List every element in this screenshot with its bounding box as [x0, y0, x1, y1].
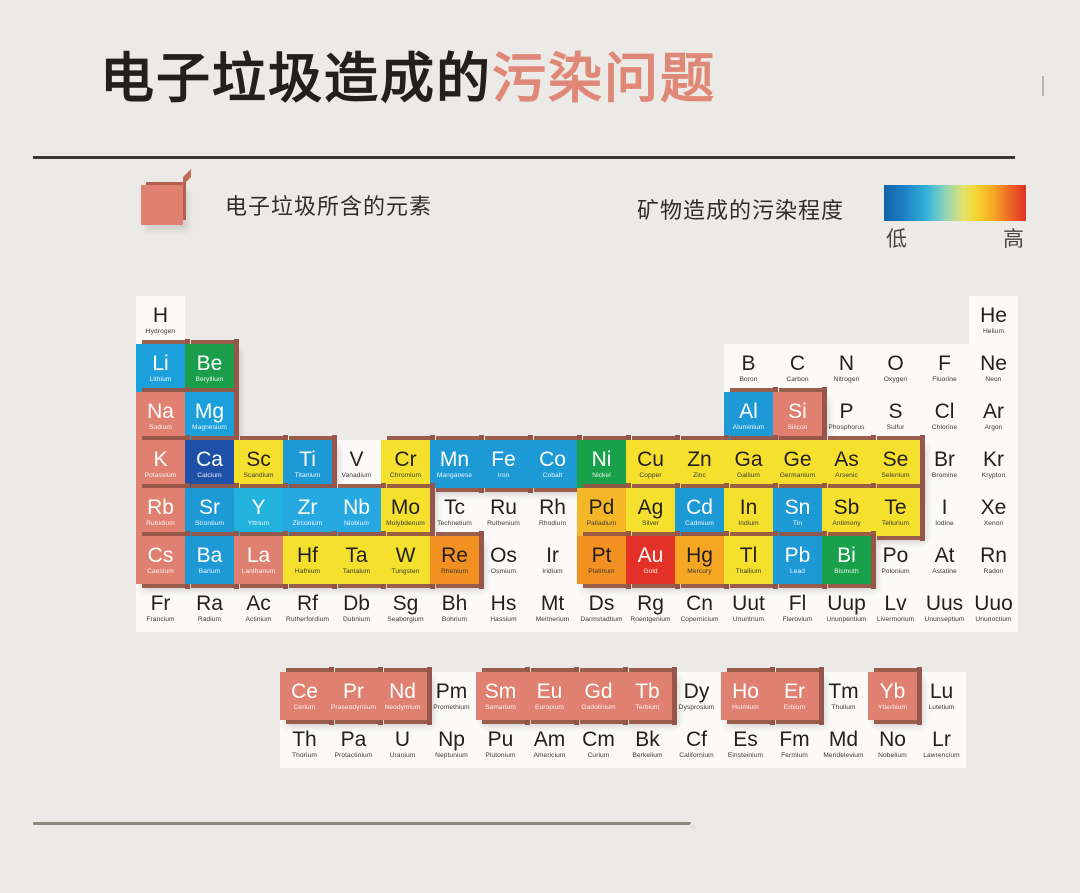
element-name: Astatine — [932, 569, 957, 576]
element-cell-bi[interactable]: BiBismuth — [822, 536, 871, 584]
element-name: Iron — [498, 473, 510, 480]
element-cell-co[interactable]: CoCobalt — [528, 440, 577, 488]
element-cell-br[interactable]: BrBromine — [920, 440, 969, 488]
element-name: Arsenic — [835, 473, 858, 480]
element-symbol: Zn — [687, 449, 712, 470]
element-cell-s[interactable]: SSulfur — [871, 392, 920, 440]
element-cell-eu[interactable]: EuEuropium — [525, 672, 574, 720]
element-symbol: Kr — [983, 449, 1004, 470]
element-name: Manganese — [437, 473, 472, 480]
element-cell-ni[interactable]: NiNickel — [577, 440, 626, 488]
element-cell-i[interactable]: IIodine — [920, 488, 969, 536]
element-cell-dy[interactable]: DyDysprosium — [672, 672, 721, 720]
element-cell-ta[interactable]: TaTantalum — [332, 536, 381, 584]
element-cell-sb[interactable]: SbAntimony — [822, 488, 871, 536]
element-cell-pu[interactable]: PuPlutonium — [476, 720, 525, 768]
element-symbol: Cn — [686, 593, 713, 614]
element-name: Sodium — [149, 425, 172, 432]
element-cell-nd[interactable]: NdNeodymium — [378, 672, 427, 720]
element-cell-ne[interactable]: NeNeon — [969, 344, 1018, 392]
element-symbol: Ra — [196, 593, 223, 614]
element-symbol: Fl — [789, 593, 807, 614]
element-symbol: Ge — [783, 449, 811, 470]
element-name: Bromine — [932, 473, 957, 480]
legend-pollution: 矿物造成的污染程度 低 高 — [637, 185, 1026, 253]
element-symbol: Db — [343, 593, 370, 614]
element-name: Ununseptium — [925, 617, 965, 624]
element-cell-yb[interactable]: YbYtterbium — [868, 672, 917, 720]
element-cell-tc[interactable]: TcTechnetium — [430, 488, 479, 536]
element-symbol: Bh — [442, 593, 468, 614]
element-name: Cadmium — [685, 521, 714, 528]
element-cell-w[interactable]: WTungsten — [381, 536, 430, 584]
element-cell-pt[interactable]: PtPlatinum — [577, 536, 626, 584]
element-name: Europium — [535, 705, 564, 712]
element-symbol: Hf — [297, 545, 318, 566]
element-symbol: Th — [292, 729, 317, 750]
element-name: Palladium — [587, 521, 617, 528]
element-name: Krypton — [982, 473, 1005, 480]
legend-gradient-high: 高 — [1003, 223, 1024, 253]
element-name: Lutetium — [928, 705, 954, 712]
element-symbol: Br — [934, 449, 955, 470]
element-name: Titanium — [295, 473, 321, 480]
element-cell-cl[interactable]: ClChlorine — [920, 392, 969, 440]
element-cell-rh[interactable]: RhRhodium — [528, 488, 577, 536]
legend-ewaste-label: 电子垃圾所含的元素 — [225, 189, 432, 221]
element-cell-mg[interactable]: MgMagnesium — [185, 392, 234, 440]
element-symbol: Ce — [291, 681, 318, 702]
element-cell-au[interactable]: AuGold — [626, 536, 675, 584]
element-cell-hf[interactable]: HfHafnium — [283, 536, 332, 584]
element-cell-tl[interactable]: TlThallium — [724, 536, 773, 584]
element-name: Magnesium — [192, 425, 227, 432]
element-cell-se[interactable]: SeSelenium — [871, 440, 920, 488]
element-cell-es[interactable]: EsEinsteinium — [721, 720, 770, 768]
element-cell-p[interactable]: PPhosphorus — [822, 392, 871, 440]
element-name: Zinc — [693, 473, 706, 480]
legend-swatch-icon — [141, 185, 183, 225]
element-name: Radium — [198, 617, 221, 624]
element-cell-bk[interactable]: BkBerkelium — [623, 720, 672, 768]
element-cell-xe[interactable]: XeXenon — [969, 488, 1018, 536]
element-cell-be[interactable]: BeBeryllium — [185, 344, 234, 392]
element-symbol: Co — [539, 449, 566, 470]
element-name: Indium — [738, 521, 758, 528]
element-symbol: C — [790, 353, 805, 374]
element-cell-he[interactable]: HeHelium — [969, 296, 1018, 344]
element-cell-uus[interactable]: UusUnunseptium — [920, 584, 969, 632]
legend-gradient-scale: 低 高 — [884, 223, 1026, 253]
element-symbol: Lv — [884, 593, 906, 614]
element-cell-lv[interactable]: LvLivermorium — [871, 584, 920, 632]
element-cell-si[interactable]: SiSilicon — [773, 392, 822, 440]
element-cell-la[interactable]: LaLanthanum — [234, 536, 283, 584]
element-cell-sm[interactable]: SmSamarium — [476, 672, 525, 720]
element-symbol: Rn — [980, 545, 1007, 566]
element-symbol: V — [349, 449, 363, 470]
f-block-table: CeCeriumPrPraseodymiumNdNeodymiumPmProme… — [280, 672, 976, 778]
element-cell-sg[interactable]: SgSeaborgium — [381, 584, 430, 632]
element-cell-ar[interactable]: ArArgon — [969, 392, 1018, 440]
element-name: Fluorine — [932, 377, 957, 384]
element-cell-po[interactable]: PoPolonium — [871, 536, 920, 584]
element-cell-li[interactable]: LiLithium — [136, 344, 185, 392]
element-symbol: Pa — [341, 729, 367, 750]
element-cell-rn[interactable]: RnRadon — [969, 536, 1018, 584]
element-symbol: Nd — [389, 681, 416, 702]
element-name: Chromium — [390, 473, 421, 480]
element-cell-bh[interactable]: BhBohrium — [430, 584, 479, 632]
element-name: Lithium — [150, 377, 172, 384]
element-symbol: Xe — [981, 497, 1007, 518]
element-name: Helium — [983, 329, 1004, 336]
element-symbol: Os — [490, 545, 517, 566]
element-name: Rubidium — [146, 521, 175, 528]
element-symbol: Sc — [246, 449, 271, 470]
element-name: Californium — [679, 753, 713, 760]
element-symbol: Pd — [589, 497, 615, 518]
element-name: Tantalum — [343, 569, 371, 576]
element-cell-mo[interactable]: MoMolybdenum — [381, 488, 430, 536]
element-symbol: Cu — [637, 449, 664, 470]
element-name: Tungsten — [391, 569, 419, 576]
element-name: Rhenium — [441, 569, 468, 576]
element-symbol: Ac — [246, 593, 271, 614]
element-name: Gadolinium — [581, 705, 615, 712]
element-name: Livermorium — [877, 617, 914, 624]
element-cell-ra[interactable]: RaRadium — [185, 584, 234, 632]
element-cell-cd[interactable]: CdCadmium — [675, 488, 724, 536]
element-cell-uuo[interactable]: UuoUnunoctium — [969, 584, 1018, 632]
element-symbol: Ba — [197, 545, 223, 566]
element-symbol: Re — [441, 545, 468, 566]
element-cell-pr[interactable]: PrPraseodymium — [329, 672, 378, 720]
element-symbol: Am — [534, 729, 566, 750]
element-cell-mn[interactable]: MnManganese — [430, 440, 479, 488]
element-cell-kr[interactable]: KrKrypton — [969, 440, 1018, 488]
element-cell-rb[interactable]: RbRubidium — [136, 488, 185, 536]
element-cell-ru[interactable]: RuRuthenium — [479, 488, 528, 536]
element-cell-fm[interactable]: FmFermium — [770, 720, 819, 768]
element-cell-cs[interactable]: CsCaesium — [136, 536, 185, 584]
element-name: Chlorine — [932, 425, 957, 432]
element-symbol: Fe — [491, 449, 516, 470]
element-cell-mt[interactable]: MtMeitnerium — [528, 584, 577, 632]
element-name: Ruthenium — [487, 521, 520, 528]
element-name: Hassium — [490, 617, 516, 624]
element-name: Protactinium — [335, 753, 373, 760]
element-symbol: Bk — [635, 729, 660, 750]
element-symbol: Cs — [148, 545, 174, 566]
element-symbol: U — [395, 729, 410, 750]
element-name: Ununpentium — [826, 617, 866, 624]
element-cell-cn[interactable]: CnCopernicium — [675, 584, 724, 632]
element-symbol: Mg — [195, 401, 224, 422]
element-name: Flerovium — [783, 617, 813, 624]
element-symbol: Zr — [298, 497, 318, 518]
element-cell-u[interactable]: UUranium — [378, 720, 427, 768]
element-name: Thulium — [831, 705, 855, 712]
element-cell-te[interactable]: TeTellurium — [871, 488, 920, 536]
element-name: Cerium — [294, 705, 316, 712]
element-symbol: Na — [147, 401, 174, 422]
element-cell-pa[interactable]: PaProtactinium — [329, 720, 378, 768]
element-cell-c[interactable]: CCarbon — [773, 344, 822, 392]
element-cell-o[interactable]: OOxygen — [871, 344, 920, 392]
page-title-accent: 污染问题 — [492, 49, 716, 109]
title-tick-mark — [1042, 76, 1044, 96]
element-symbol: Au — [638, 545, 664, 566]
element-cell-ir[interactable]: IrIridium — [528, 536, 577, 584]
element-cell-na[interactable]: NaSodium — [136, 392, 185, 440]
element-name: Cobalt — [543, 473, 563, 480]
element-name: Curium — [588, 753, 610, 760]
element-symbol: O — [887, 353, 903, 374]
element-cell-er[interactable]: ErErbium — [770, 672, 819, 720]
element-name: Meitnerium — [536, 617, 570, 624]
element-symbol: Rf — [297, 593, 318, 614]
element-name: Terbium — [635, 705, 659, 712]
element-cell-in[interactable]: InIndium — [724, 488, 773, 536]
element-cell-pb[interactable]: PbLead — [773, 536, 822, 584]
element-cell-zr[interactable]: ZrZirconium — [283, 488, 332, 536]
element-name: Holmium — [732, 705, 759, 712]
element-cell-no[interactable]: NoNobelium — [868, 720, 917, 768]
element-cell-v[interactable]: VVanadium — [332, 440, 381, 488]
element-cell-pm[interactable]: PmPromethium — [427, 672, 476, 720]
element-symbol: Er — [784, 681, 805, 702]
element-name: Dubnium — [343, 617, 370, 624]
element-symbol: Cl — [935, 401, 955, 422]
element-name: Seaborgium — [387, 617, 424, 624]
element-name: Berkelium — [632, 753, 662, 760]
element-symbol: Sg — [393, 593, 419, 614]
element-name: Strontium — [195, 521, 224, 528]
element-cell-tb[interactable]: TbTerbium — [623, 672, 672, 720]
element-cell-h[interactable]: HHydrogen — [136, 296, 185, 344]
element-name: Uranium — [390, 753, 416, 760]
element-name: Gallium — [737, 473, 760, 480]
element-cell-lr[interactable]: LrLawrencium — [917, 720, 966, 768]
element-cell-y[interactable]: YYttrium — [234, 488, 283, 536]
element-symbol: Ca — [196, 449, 223, 470]
element-symbol: Md — [829, 729, 858, 750]
element-symbol: Yb — [880, 681, 906, 702]
element-cell-am[interactable]: AmAmericium — [525, 720, 574, 768]
element-cell-ca[interactable]: CaCalcium — [185, 440, 234, 488]
element-name: Neodymium — [384, 705, 420, 712]
element-symbol: Ti — [299, 449, 316, 470]
element-symbol: F — [938, 353, 951, 374]
element-name: Polonium — [881, 569, 909, 576]
element-symbol: Be — [197, 353, 223, 374]
element-name: Silicon — [787, 425, 807, 432]
element-cell-ag[interactable]: AgSilver — [626, 488, 675, 536]
element-cell-os[interactable]: OsOsmium — [479, 536, 528, 584]
element-symbol: As — [834, 449, 859, 470]
element-cell-fl[interactable]: FlFlerovium — [773, 584, 822, 632]
element-cell-rf[interactable]: RfRutherfordium — [283, 584, 332, 632]
element-cell-f[interactable]: FFluorine — [920, 344, 969, 392]
element-cell-fe[interactable]: FeIron — [479, 440, 528, 488]
element-cell-sr[interactable]: SrStrontium — [185, 488, 234, 536]
element-name: Mendelevium — [823, 753, 863, 760]
element-symbol: Sm — [485, 681, 517, 702]
element-name: Actinium — [245, 617, 271, 624]
element-symbol: At — [935, 545, 955, 566]
element-symbol: Ho — [732, 681, 759, 702]
element-symbol: W — [396, 545, 416, 566]
element-cell-ge[interactable]: GeGermanium — [773, 440, 822, 488]
element-name: Francium — [146, 617, 174, 624]
element-cell-uut[interactable]: UutUnuntrium — [724, 584, 773, 632]
legend-ewaste: 电子垃圾所含的元素 — [141, 185, 432, 225]
element-cell-n[interactable]: NNitrogen — [822, 344, 871, 392]
element-cell-k[interactable]: KPotassium — [136, 440, 185, 488]
element-name: Neon — [985, 377, 1001, 384]
element-name: Xenon — [984, 521, 1004, 528]
element-cell-b[interactable]: BBoron — [724, 344, 773, 392]
element-cell-hs[interactable]: HsHassium — [479, 584, 528, 632]
element-symbol: Ir — [546, 545, 559, 566]
element-cell-ac[interactable]: AcActinium — [234, 584, 283, 632]
element-name: Nitrogen — [834, 377, 860, 384]
element-symbol: P — [839, 401, 853, 422]
element-symbol: Cd — [686, 497, 713, 518]
footer-divider — [33, 822, 691, 825]
element-name: Lanthanum — [242, 569, 276, 576]
element-name: Fermium — [781, 753, 808, 760]
element-symbol: Dy — [684, 681, 710, 702]
element-symbol: Rg — [637, 593, 664, 614]
element-symbol: Sn — [785, 497, 811, 518]
element-cell-th[interactable]: ThThorium — [280, 720, 329, 768]
element-name: Thorium — [292, 753, 317, 760]
element-cell-cm[interactable]: CmCurium — [574, 720, 623, 768]
element-name: Carbon — [786, 377, 808, 384]
element-cell-cr[interactable]: CrChromium — [381, 440, 430, 488]
element-name: Sulfur — [887, 425, 905, 432]
element-symbol: I — [942, 497, 948, 518]
element-name: Samarium — [485, 705, 516, 712]
element-name: Copernicium — [680, 617, 718, 624]
element-cell-as[interactable]: AsArsenic — [822, 440, 871, 488]
element-cell-fr[interactable]: FrFrancium — [136, 584, 185, 632]
element-cell-tm[interactable]: TmThulium — [819, 672, 868, 720]
element-symbol: Ru — [490, 497, 517, 518]
element-symbol: Pr — [343, 681, 364, 702]
element-cell-uup[interactable]: UupUnunpentium — [822, 584, 871, 632]
element-name: Hydrogen — [146, 329, 175, 336]
element-symbol: Ds — [589, 593, 615, 614]
element-symbol: Hs — [491, 593, 517, 614]
element-cell-re[interactable]: ReRhenium — [430, 536, 479, 584]
element-cell-sc[interactable]: ScScandium — [234, 440, 283, 488]
element-cell-hg[interactable]: HgMercury — [675, 536, 724, 584]
element-name: Promethium — [433, 705, 470, 712]
element-name: Bohrium — [442, 617, 467, 624]
element-name: Tellurium — [882, 521, 909, 528]
element-symbol: B — [741, 353, 755, 374]
element-symbol: Uus — [926, 593, 963, 614]
element-symbol: H — [153, 305, 168, 326]
element-cell-gd[interactable]: GdGadolinium — [574, 672, 623, 720]
element-symbol: Sb — [834, 497, 860, 518]
element-name: Ununoctium — [975, 617, 1011, 624]
element-cell-ds[interactable]: DsDarmstadtium — [577, 584, 626, 632]
element-name: Ytterbium — [878, 705, 907, 712]
legend-pollution-label: 矿物造成的污染程度 — [637, 193, 844, 225]
element-cell-ti[interactable]: TiTitanium — [283, 440, 332, 488]
element-name: Silver — [642, 521, 659, 528]
element-cell-zn[interactable]: ZnZinc — [675, 440, 724, 488]
element-symbol: Lr — [932, 729, 951, 750]
element-cell-db[interactable]: DbDubnium — [332, 584, 381, 632]
element-cell-ba[interactable]: BaBarium — [185, 536, 234, 584]
element-name: Selenium — [881, 473, 909, 480]
element-cell-al[interactable]: AlAluminium — [724, 392, 773, 440]
element-cell-lu[interactable]: LuLutetium — [917, 672, 966, 720]
element-name: Aluminium — [733, 425, 765, 432]
element-name: Platinum — [588, 569, 614, 576]
element-name: Calcium — [197, 473, 222, 480]
element-name: Lawrencium — [923, 753, 960, 760]
element-name: Argon — [984, 425, 1002, 432]
element-symbol: Fr — [151, 593, 171, 614]
element-symbol: Np — [438, 729, 465, 750]
element-name: Ununtrium — [733, 617, 764, 624]
element-cell-sn[interactable]: SnTin — [773, 488, 822, 536]
element-name: Nickel — [592, 473, 611, 480]
element-cell-np[interactable]: NpNeptunium — [427, 720, 476, 768]
element-symbol: He — [980, 305, 1007, 326]
element-cell-ce[interactable]: CeCerium — [280, 672, 329, 720]
element-name: Lead — [790, 569, 805, 576]
element-symbol: Bi — [837, 545, 856, 566]
element-name: Scandium — [243, 473, 273, 480]
element-cell-at[interactable]: AtAstatine — [920, 536, 969, 584]
element-name: Niobium — [344, 521, 369, 528]
element-cell-pd[interactable]: PdPalladium — [577, 488, 626, 536]
element-cell-cu[interactable]: CuCopper — [626, 440, 675, 488]
element-symbol: Se — [883, 449, 909, 470]
title-block: 电子垃圾造成的污染问题 — [100, 48, 716, 110]
element-name: Boron — [739, 377, 757, 384]
element-symbol: Y — [251, 497, 265, 518]
element-symbol: Tb — [635, 681, 660, 702]
element-symbol: Mt — [541, 593, 564, 614]
element-cell-ga[interactable]: GaGallium — [724, 440, 773, 488]
header-divider — [33, 156, 1015, 159]
element-cell-ho[interactable]: HoHolmium — [721, 672, 770, 720]
element-cell-md[interactable]: MdMendelevium — [819, 720, 868, 768]
element-name: Mercury — [687, 569, 712, 576]
element-symbol: Ne — [980, 353, 1007, 374]
element-cell-cf[interactable]: CfCalifornium — [672, 720, 721, 768]
element-symbol: Es — [733, 729, 758, 750]
element-symbol: Tc — [444, 497, 465, 518]
element-name: Dysprosium — [679, 705, 715, 712]
element-symbol: Ag — [638, 497, 664, 518]
element-cell-rg[interactable]: RgRoentgenium — [626, 584, 675, 632]
element-name: Copper — [639, 473, 661, 480]
element-cell-nb[interactable]: NbNiobium — [332, 488, 381, 536]
element-symbol: Fm — [779, 729, 809, 750]
element-symbol: Tl — [740, 545, 758, 566]
element-name: Potassium — [145, 473, 177, 480]
legend-gradient-wrap: 低 高 — [884, 185, 1026, 253]
